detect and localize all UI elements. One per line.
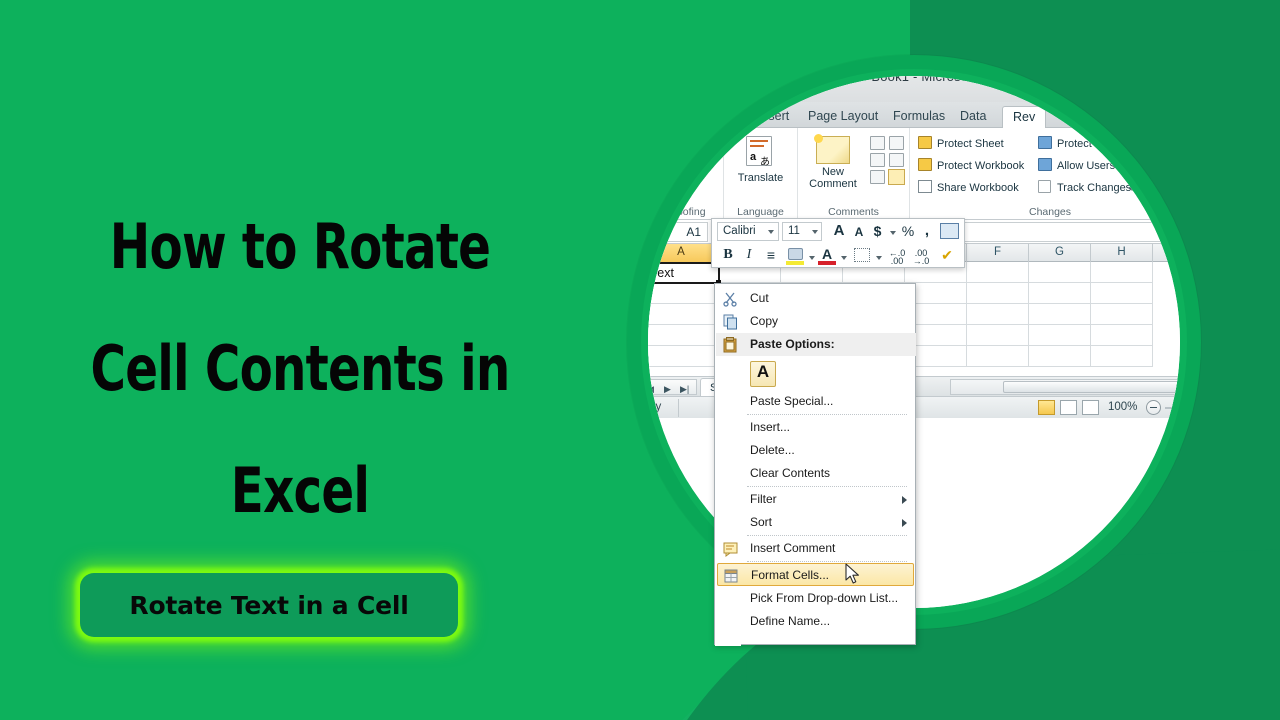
ribbon-group-comments: New Comment Comments [798,128,910,220]
menu-header-label: Paste Options: [750,337,835,351]
cell[interactable] [1091,283,1153,304]
fill-color-swatch[interactable] [786,261,804,265]
tab-formulas[interactable]: Formulas [883,106,955,128]
ribbon-group-label-proofing: Proofing [648,206,724,218]
zoom-slider-track[interactable] [1165,407,1180,409]
ribbon-group-label-language: Language [724,206,797,218]
menu-item-label: Sort [750,515,772,529]
cell[interactable] [967,262,1029,283]
font-color-chevron-down-icon[interactable] [841,256,847,260]
format-painter-icon[interactable]: ✔ [938,247,956,264]
status-text: Ready [648,401,661,413]
mouse-cursor-icon [845,563,863,592]
ribbon-group-language: a あ Translate Language [724,128,798,220]
menu-item-insert-comment[interactable]: Insert Comment [716,537,916,560]
cta-button-label: Rotate Text in a Cell [80,573,458,637]
cell[interactable] [1029,346,1091,367]
menu-item-label: Define Name... [750,614,830,628]
format-cells-icon [723,567,740,584]
italic-icon[interactable]: I [742,247,756,263]
cell[interactable] [1029,304,1091,325]
show-ink-icon[interactable] [888,169,905,185]
window-title: Book1 - Microsoft E [648,76,1180,84]
cell[interactable] [967,346,1029,367]
track-changes-chevron-down-icon[interactable] [1129,187,1135,191]
menu-item-cut[interactable]: Cut [716,287,916,310]
horizontal-scroll-thumb[interactable] [1003,381,1180,393]
allow-users-to-edit-ranges-label[interactable]: Allow Users to [1057,160,1127,172]
grow-font-icon[interactable]: A [830,222,848,239]
new-comment-label-2[interactable]: Comment [798,178,868,190]
tab-data[interactable]: Data [950,106,996,128]
menu-item-insert[interactable]: Insert... [716,416,916,439]
translate-icon[interactable]: a あ [746,136,772,166]
next-comment-icon[interactable] [870,153,885,167]
ribbon-group-changes: Protect Sheet Protect Workbook Share Wor… [910,128,1180,220]
percent-style-icon[interactable]: % [900,223,916,239]
cell[interactable] [967,325,1029,346]
menu-separator [747,414,907,415]
ribbon-group-label-comments: Comments [798,206,909,218]
paste-keep-source-formatting-icon[interactable]: A [750,361,776,387]
show-all-comments-icon[interactable] [889,153,904,167]
name-box[interactable]: A1 [648,222,708,242]
zoom-level-label[interactable]: 100% [1108,401,1137,413]
cell[interactable] [967,304,1029,325]
translate-label[interactable]: Translate [724,172,797,184]
tab-review[interactable]: Rev [1002,106,1046,128]
cell[interactable] [967,283,1029,304]
cell[interactable] [1091,262,1153,283]
font-color-icon[interactable]: A [819,246,835,262]
track-changes-icon[interactable] [1038,180,1051,193]
status-divider [678,399,679,417]
cell[interactable] [1091,346,1153,367]
mini-toolbar: Calibri 11 A A $ % , B I ≡ A ←.0.00 .00→… [711,218,965,268]
menu-item-delete[interactable]: Delete... [716,439,916,462]
menu-item-format-cells[interactable]: Format Cells... [717,563,914,586]
sheet-nav-buttons[interactable]: |◀ ◀ ▶ ▶| [648,379,697,395]
headline-line-2: Cell Contents in [66,308,534,430]
cell[interactable] [648,304,719,325]
menu-item-copy[interactable]: Copy [716,310,916,333]
page-title: How to Rotate Cell Contents in Excel [66,186,534,552]
borders-chevron-down-icon[interactable] [876,256,882,260]
page-layout-view-button[interactable] [1060,400,1077,415]
cell[interactable] [648,325,719,346]
previous-comment-icon[interactable] [889,136,904,150]
center-align-icon[interactable]: ≡ [762,247,780,263]
tab-insert[interactable]: Insert [748,106,799,128]
cell[interactable] [1029,262,1091,283]
format-as-table-icon[interactable] [940,223,959,239]
protect-sheet-label[interactable]: Protect Sheet [937,138,1004,150]
track-changes-label[interactable]: Track Changes [1057,182,1131,194]
ribbon: ch saurus Proofing a あ Translate Languag… [648,128,1180,220]
menu-item-label: Format Cells... [751,568,829,582]
scissors-icon [722,290,739,307]
mini-toolbar-row-1: Calibri 11 A A $ % , [712,219,966,244]
cell[interactable] [648,346,719,367]
menu-item-pick-from-dropdown-list[interactable]: Pick From Drop-down List... [716,587,916,610]
decrease-decimal-icon[interactable]: .00→.0 [912,249,930,265]
menu-item-label: Paste Special... [750,394,833,408]
menu-item-paste-special[interactable]: Paste Special... [716,390,916,413]
font-name-chevron-down-icon[interactable] [768,230,774,234]
previous-sheet-icon[interactable]: ◀ [648,384,654,395]
comment-icon [722,540,739,557]
proofing-item-research[interactable]: ch [678,160,690,172]
menu-item-label: Delete... [750,443,795,457]
cell[interactable] [1091,304,1153,325]
paste-options-gallery: A [716,358,916,390]
fill-color-icon[interactable] [788,248,803,260]
column-header-a[interactable]: A [648,244,719,262]
protect-and-share-label[interactable]: Protect and [1057,138,1113,150]
menu-item-label: Filter [750,492,777,506]
shrink-font-icon[interactable]: A [851,225,867,239]
font-color-swatch[interactable] [818,261,836,265]
allow-users-to-edit-ranges-icon[interactable] [1038,158,1052,171]
borders-icon[interactable] [854,248,870,262]
comma-style-icon[interactable]: , [920,222,934,239]
menu-item-sort[interactable]: Sort [716,511,916,534]
column-header-g[interactable]: G [1029,244,1091,262]
protect-sheet-icon[interactable] [918,136,932,149]
ribbon-tab-strip: Insert Page Layout Formulas Data Rev [648,102,1180,128]
protect-workbook-icon[interactable] [918,158,932,171]
ribbon-group-label-changes: Changes [950,206,1150,218]
protect-and-share-icon[interactable] [1038,136,1052,149]
mini-toolbar-row-2: B I ≡ A ←.0.00 .00→.0 ✔ [712,244,966,269]
accounting-format-chevron-down-icon[interactable] [890,231,896,235]
menu-item-filter[interactable]: Filter [716,488,916,511]
menu-item-label: Copy [750,314,778,328]
accounting-number-format-icon[interactable]: $ [870,223,885,239]
context-menu: Cut Copy Paste Options: A Paste Special.… [714,283,916,645]
tab-page-layout[interactable]: Page Layout [798,106,888,128]
menu-separator [747,561,907,562]
cell[interactable] [1029,325,1091,346]
copy-icon [722,313,739,330]
zoom-out-button[interactable] [1146,400,1161,415]
bold-icon[interactable]: B [720,247,736,263]
column-header-h[interactable]: H [1091,244,1153,262]
delete-comment-icon[interactable] [870,136,885,150]
show-hide-comment-icon[interactable] [870,170,885,184]
menu-header-paste-options: Paste Options: [716,333,916,356]
menu-item-label: Insert Comment [750,541,835,555]
share-workbook-icon[interactable] [918,180,932,193]
headline-line-1: How to Rotate [66,186,534,308]
menu-item-clear-contents[interactable]: Clear Contents [716,462,916,485]
cta-button[interactable]: Rotate Text in a Cell [80,573,458,637]
menu-item-label: Clear Contents [750,466,830,480]
paste-icon [722,336,739,353]
new-comment-label-1[interactable]: New [798,166,868,178]
submenu-arrow-icon [902,496,907,504]
column-header-f[interactable]: F [967,244,1029,262]
menu-item-define-name[interactable]: Define Name... [716,610,916,633]
protect-workbook-label[interactable]: Protect Workbook [937,160,1024,172]
cell[interactable] [648,283,719,304]
normal-view-button[interactable] [1038,400,1055,415]
fill-color-chevron-down-icon[interactable] [809,256,815,260]
submenu-arrow-icon [902,519,907,527]
proofing-item-thesaurus[interactable]: saurus [658,182,691,194]
selected-cell-a1[interactable]: Text [648,262,720,284]
font-size-chevron-down-icon[interactable] [812,230,818,234]
page-break-preview-button[interactable] [1082,400,1099,415]
menu-item-label: Insert... [750,420,790,434]
menu-separator [747,486,907,487]
menu-item-label: Pick From Drop-down List... [750,591,898,605]
menu-separator [747,535,907,536]
next-sheet-icon[interactable]: ▶ [664,384,671,395]
menu-item-label: Cut [750,291,769,305]
cell[interactable] [1029,283,1091,304]
last-sheet-icon[interactable]: ▶| [680,384,689,395]
horizontal-scrollbar[interactable] [950,379,1180,395]
headline-line-3: Excel [66,430,534,552]
excel-title-bar: Book1 - Microsoft E [648,76,1180,102]
cell[interactable] [1091,325,1153,346]
ribbon-group-proofing: ch saurus Proofing [648,128,724,220]
share-workbook-label[interactable]: Share Workbook [937,182,1019,194]
increase-decimal-icon[interactable]: ←.0.00 [888,249,906,265]
